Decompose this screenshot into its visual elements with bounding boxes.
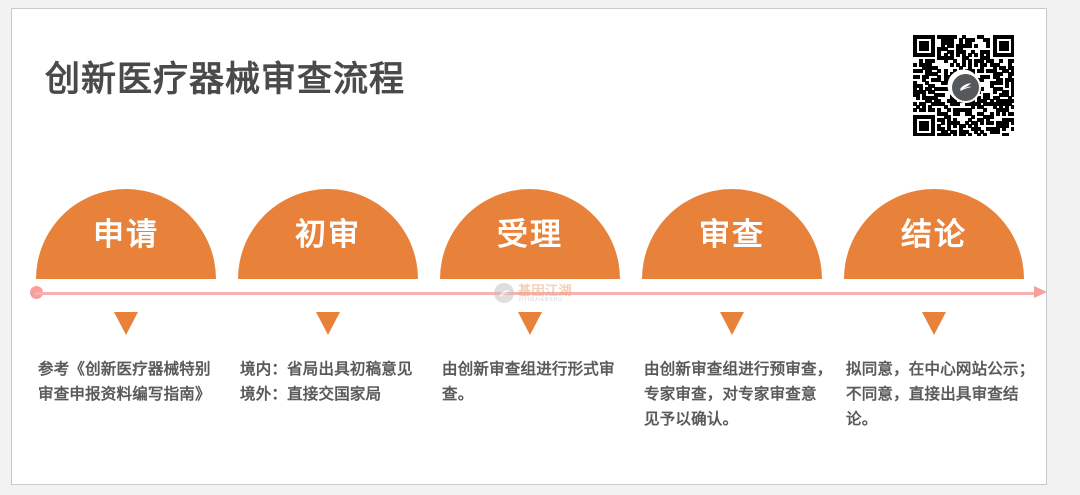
stage-marker-icon <box>922 312 946 335</box>
stage-description: 由创新审查组进行形式审 查。 <box>442 357 638 407</box>
stage-label: 受理 <box>440 209 620 254</box>
stage-jielun[interactable]: 结论 拟同意，在中心网站公示； 不同意，直接出具审查结 论。 <box>842 9 1042 485</box>
stage-description: 由创新审查组进行预审查， 专家审查，对专家审查意 见予以确认。 <box>644 357 840 432</box>
stage-description: 参考《创新医疗器械特别 审查申报资料编写指南》 <box>38 357 234 407</box>
stage-shouli[interactable]: 受理 由创新审查组进行形式审 查。 <box>438 9 638 485</box>
stage-label: 结论 <box>844 209 1024 254</box>
stage-shencha[interactable]: 审查 由创新审查组进行预审查， 专家审查，对专家审查意 见予以确认。 <box>640 9 840 485</box>
stage-marker-icon <box>316 312 340 335</box>
infographic-card: 创新医疗器械审查流程 基因江湖 JIYINJIANGHU 申请 <box>11 8 1047 485</box>
stage-description: 拟同意，在中心网站公示； 不同意，直接出具审查结 论。 <box>846 357 1042 432</box>
stage-label: 审查 <box>642 209 822 254</box>
stage-label: 初审 <box>238 209 418 254</box>
stage-shenqing[interactable]: 申请 参考《创新医疗器械特别 审查申报资料编写指南》 <box>34 9 234 485</box>
stage-label: 申请 <box>36 209 216 254</box>
stage-description: 境内：省局出具初稿意见 境外：直接交国家局 <box>240 357 436 407</box>
stage-chushen[interactable]: 初审 境内：省局出具初稿意见 境外：直接交国家局 <box>236 9 436 485</box>
stage-marker-icon <box>518 312 542 335</box>
stage-marker-icon <box>720 312 744 335</box>
stage-marker-icon <box>114 312 138 335</box>
